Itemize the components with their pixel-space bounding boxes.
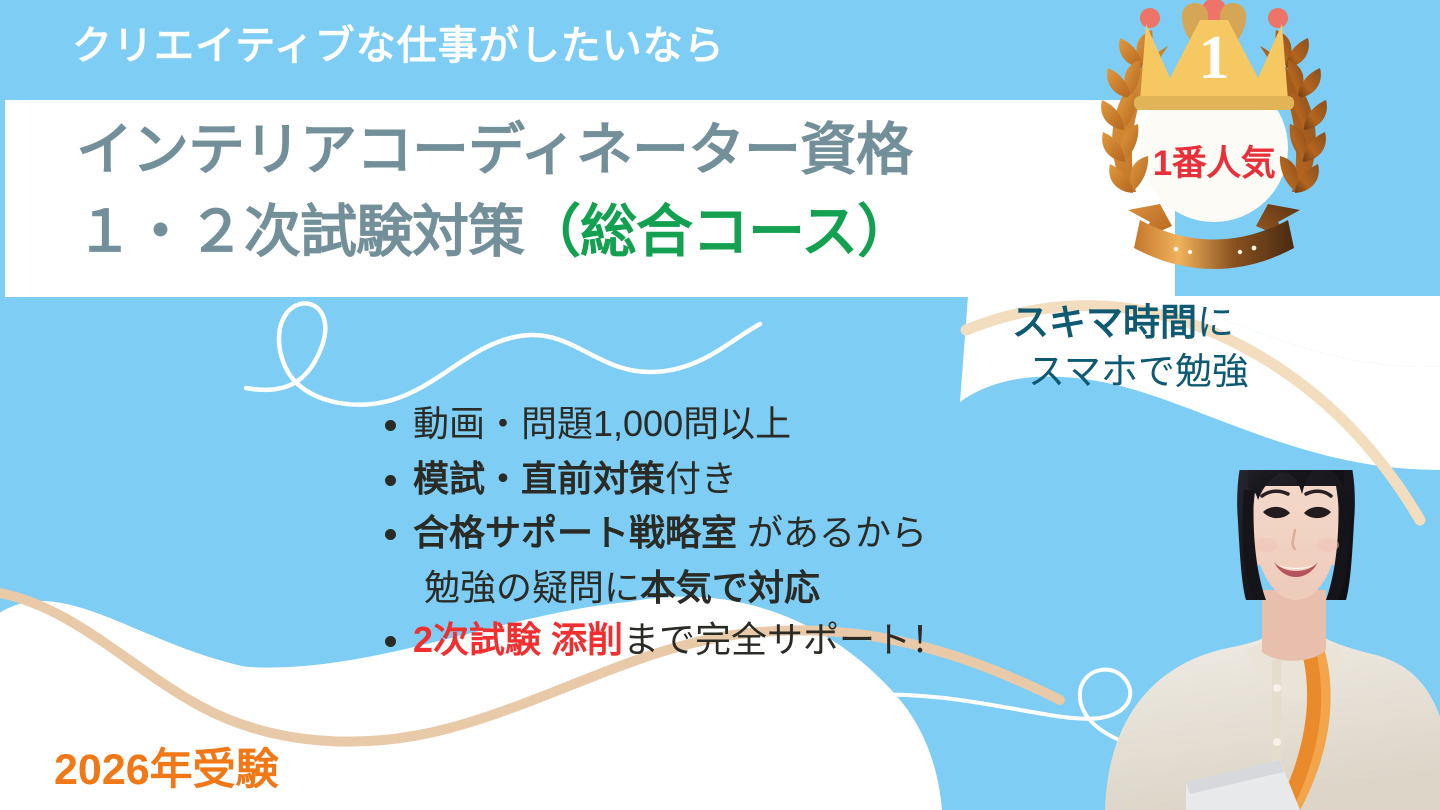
bullet-support-room-subline: 勉強の疑問に本気で対応 [385,562,1025,615]
bullet-seg: 勉強の疑問に [424,567,640,608]
list-item: 動画・問題1,000問以上 [385,398,1025,451]
bullet-mock-exam-text: 模試・直前対策付き [413,453,1025,506]
side-copy: スキマ時間に スマホで勉強 [1012,298,1249,396]
badge-label: 1番人気 [1088,135,1340,186]
title-line-2-main: １・２次試験対策 [76,200,524,264]
title-line-2: １・２次試験対策（総合コース） [76,204,913,261]
bullet-dot-icon [385,636,396,647]
title-line-1: インテリアコーディネーター資格 [76,122,912,179]
banner-canvas: クリエイティブな仕事がしたいなら インテリアコーディネーター資格 １・２次試験対… [0,0,1440,810]
crown-number: 1 [1199,24,1230,92]
popularity-badge: 1 1番人気 [1088,0,1340,296]
bullet-seg: 本気で対応 [640,567,820,608]
bullet-seg: 模試・直前対策 [413,458,665,499]
title-course-label: （総合コース） [524,200,913,264]
bullet-seg: 2次試験 添削 [413,619,623,660]
bullet-videos-text: 動画・問題1,000問以上 [413,398,1025,451]
bullet-dot-icon [385,475,396,486]
bullet-seg: があるから [737,512,927,553]
list-item: 模試・直前対策付き [385,453,1025,506]
side-copy-thin: に [1197,302,1234,343]
bullet-dot-icon [385,529,396,540]
feature-bullet-list: 動画・問題1,000問以上 模試・直前対策付き 合格サポート戦略室 があるから … [385,398,1025,669]
bullet-seg: 合格サポート戦略室 [413,512,737,553]
list-item: 2次試験 添削まで完全サポート！ [385,614,1025,667]
crown-icon: 1 [1134,0,1294,110]
side-copy-line-2: スマホで勉強 [1028,347,1249,396]
bullet-seg: 付き [665,458,737,499]
side-copy-bold: スキマ時間 [1012,302,1197,343]
side-copy-line-1: スキマ時間に [1012,298,1249,347]
bullet-second-exam-text: 2次試験 添削まで完全サポート！ [413,614,1025,667]
year-tag: 2026年受験 [54,735,279,797]
list-item: 合格サポート戦略室 があるから [385,507,1025,560]
bullet-seg: まで完全サポート！ [623,619,947,660]
bullet-seg: 動画・問題1,000問以上 [413,403,791,444]
bullet-dot-icon [385,420,396,431]
bullet-support-room-text: 合格サポート戦略室 があるから [413,507,1025,560]
kicker-headline: クリエイティブな仕事がしたいなら [72,22,725,70]
